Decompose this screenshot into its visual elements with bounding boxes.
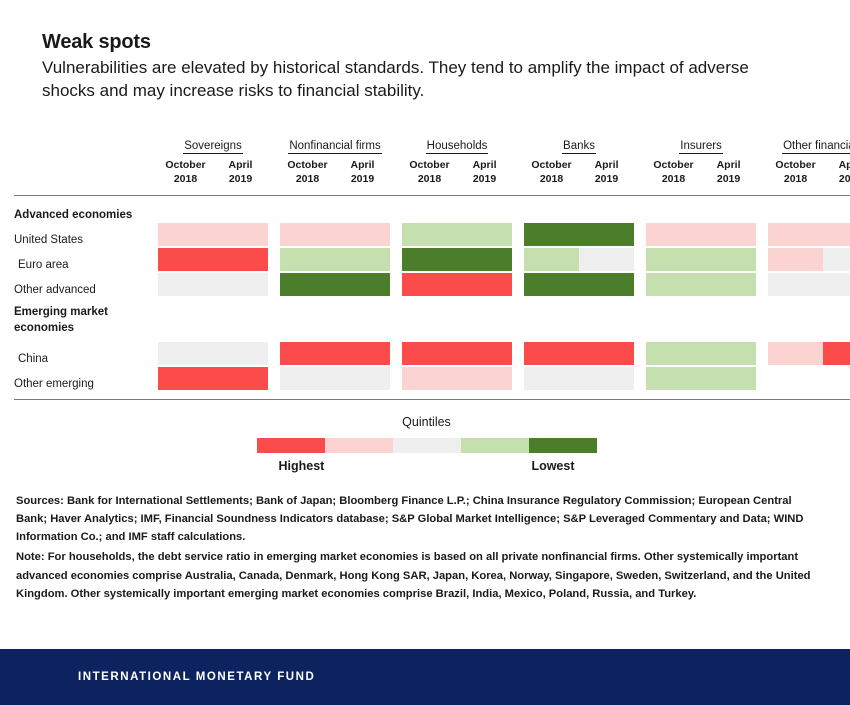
heatmap-swatch-low — [701, 273, 756, 296]
row-label-euro-area: Euro area — [14, 246, 158, 271]
cell-gap — [512, 365, 524, 390]
heatmap-cell[interactable] — [646, 365, 701, 390]
heatmap-swatch-middle — [524, 367, 580, 390]
cell-gap — [268, 246, 280, 271]
heatmap-cell[interactable] — [213, 246, 268, 271]
column-period-header-row: October2018April2019October2018April2019… — [14, 157, 850, 186]
heatmap-header: SovereignsNonfinancial firmsHouseholdsBa… — [14, 140, 850, 196]
cell-gap — [512, 221, 524, 246]
cell-gap — [634, 271, 646, 296]
heatmap-cell[interactable] — [579, 340, 634, 365]
heatmap-swatch-middle — [280, 367, 336, 390]
heatmap-swatch-middle — [158, 273, 214, 296]
legend-label-lowest: Lowest — [531, 459, 574, 473]
row-label-united-states: United States — [14, 221, 158, 246]
heatmap-swatch-middle — [213, 342, 268, 365]
legend-color-bar — [257, 438, 597, 453]
heatmap-cell[interactable] — [579, 365, 634, 390]
heatmap-cell[interactable] — [402, 246, 457, 271]
heatmap-cell[interactable] — [402, 340, 457, 365]
heatmap-swatch-low — [701, 342, 756, 365]
column-period-header: April2019 — [335, 157, 390, 186]
column-period-header: October2018 — [280, 157, 335, 186]
heatmap-cell[interactable] — [402, 271, 457, 296]
column-gap — [390, 157, 402, 186]
heatmap-swatch-high — [280, 223, 336, 246]
header-rule — [14, 186, 850, 196]
heatmap-cell[interactable] — [335, 246, 390, 271]
cell-gap — [268, 365, 280, 390]
period-year: 2019 — [595, 173, 618, 185]
heatmap-cell[interactable] — [213, 271, 268, 296]
heatmap-cell[interactable] — [158, 340, 213, 365]
column-group-label: Households — [426, 140, 489, 154]
heatmap-swatch-highest — [213, 367, 268, 390]
column-group-other-financials: Other financials — [768, 140, 850, 157]
column-period-header: October2018 — [402, 157, 457, 186]
table-row: China — [14, 340, 850, 365]
heatmap-footer — [14, 390, 850, 400]
heatmap-swatch-lowest — [579, 223, 634, 246]
heatmap-cell[interactable] — [524, 271, 579, 296]
heatmap-cell[interactable] — [823, 246, 850, 271]
legend-band-high — [325, 438, 393, 453]
heatmap-swatch-high — [823, 223, 850, 246]
period-month: April — [839, 159, 850, 171]
heatmap-cell[interactable] — [158, 221, 213, 246]
column-gap — [268, 140, 280, 157]
column-period-header: April2019 — [213, 157, 268, 186]
heatmap-swatch-low — [402, 223, 458, 246]
heatmap-cell[interactable] — [335, 365, 390, 390]
heatmap-swatch-highest — [457, 273, 512, 296]
heatmap-swatch-low — [646, 342, 702, 365]
column-gap — [634, 157, 646, 186]
heatmap-cell[interactable] — [579, 271, 634, 296]
heatmap-cell[interactable] — [701, 221, 756, 246]
heatmap-cell[interactable] — [280, 271, 335, 296]
heatmap-cell[interactable] — [768, 365, 823, 390]
heatmap-cell[interactable] — [646, 246, 701, 271]
cell-gap — [634, 365, 646, 390]
table-row: United States — [14, 221, 850, 246]
column-period-header: October2018 — [768, 157, 823, 186]
heatmap-cell[interactable] — [158, 246, 213, 271]
heatmap-cell[interactable] — [823, 340, 850, 365]
cell-gap — [756, 221, 768, 246]
note-text: Note: For households, the debt service r… — [16, 548, 821, 602]
table-row: Euro area — [14, 246, 850, 271]
period-month: October — [775, 159, 815, 171]
heatmap-cell[interactable] — [524, 340, 579, 365]
sources-text: Sources: Bank for International Settleme… — [16, 492, 821, 546]
cell-gap — [634, 340, 646, 365]
figure-page: Weak spots Vulnerabilities are elevated … — [0, 0, 850, 705]
heatmap-cell[interactable] — [524, 221, 579, 246]
heatmap-swatch-highest — [402, 273, 458, 296]
column-group-sovereigns: Sovereigns — [158, 140, 268, 157]
heatmap-swatch-high — [768, 342, 824, 365]
footnotes: Sources: Bank for International Settleme… — [16, 492, 821, 603]
corner-cell-2 — [14, 157, 158, 186]
heatmap-cell[interactable] — [579, 221, 634, 246]
heatmap-swatch-low — [646, 273, 702, 296]
period-year: 2018 — [540, 173, 563, 185]
heatmap-table: SovereignsNonfinancial firmsHouseholdsBa… — [14, 140, 850, 400]
column-period-header: April2019 — [579, 157, 634, 186]
row-label-other-advanced: Other advanced — [14, 271, 158, 296]
legend-band-middle — [393, 438, 461, 453]
column-period-header: April2019 — [701, 157, 756, 186]
heatmap-cell[interactable] — [823, 365, 850, 390]
period-year: 2019 — [717, 173, 740, 185]
heatmap-cell[interactable] — [768, 246, 823, 271]
heatmap-swatch-highest — [823, 342, 850, 365]
page-subtitle: Vulnerabilities are elevated by historic… — [42, 57, 782, 103]
row-label-other-emerging: Other emerging — [14, 365, 158, 390]
heatmap-cell[interactable] — [158, 271, 213, 296]
heatmap-cell[interactable] — [701, 271, 756, 296]
heatmap-swatch-middle — [768, 273, 824, 296]
heatmap-body: Advanced economiesUnited States Euro are… — [14, 196, 850, 391]
heatmap-swatch-lowest — [524, 273, 580, 296]
period-month: October — [165, 159, 205, 171]
cell-gap — [268, 221, 280, 246]
heatmap-cell[interactable] — [213, 340, 268, 365]
heatmap-cell[interactable] — [402, 221, 457, 246]
heatmap-cell[interactable] — [701, 340, 756, 365]
column-gap — [756, 157, 768, 186]
column-period-header: October2018 — [524, 157, 579, 186]
cell-gap — [268, 271, 280, 296]
heatmap-cell[interactable] — [280, 365, 335, 390]
cell-gap — [756, 340, 768, 365]
table-row: Other emerging — [14, 365, 850, 390]
column-gap — [390, 140, 402, 157]
header-rule-row — [14, 186, 850, 196]
heatmap-swatch-low — [280, 248, 336, 271]
cell-gap — [268, 340, 280, 365]
heatmap-swatch-middle — [158, 342, 214, 365]
section-header-row: Advanced economies — [14, 196, 850, 222]
heatmap-swatch-middle — [579, 248, 634, 271]
heatmap-cell[interactable] — [579, 246, 634, 271]
row-label-china: China — [14, 340, 158, 365]
heatmap-swatch-highest — [335, 342, 390, 365]
heatmap-cell[interactable] — [335, 221, 390, 246]
period-year: 2019 — [839, 173, 850, 185]
heatmap-cell[interactable] — [701, 246, 756, 271]
section-row-fill — [158, 296, 850, 336]
heatmap-swatch-high — [158, 223, 214, 246]
period-month: April — [229, 159, 253, 171]
heatmap-cell[interactable] — [823, 271, 850, 296]
heatmap-cell[interactable] — [213, 365, 268, 390]
heatmap-cell[interactable] — [457, 246, 512, 271]
cell-gap — [756, 271, 768, 296]
column-group-label: Banks — [562, 140, 596, 154]
heatmap-cell[interactable] — [280, 246, 335, 271]
legend-title: Quintiles — [14, 415, 839, 429]
column-group-label: Sovereigns — [183, 140, 243, 154]
heatmap-cell[interactable] — [524, 365, 579, 390]
heatmap-swatch-middle — [335, 367, 390, 390]
heatmap-swatch-lowest — [579, 273, 634, 296]
legend: Quintiles Highest Lowest — [14, 415, 839, 476]
heatmap-swatch-highest — [158, 248, 214, 271]
heatmap-swatch-middle — [213, 273, 268, 296]
column-period-header: April2019 — [457, 157, 512, 186]
legend-labels: Highest Lowest — [257, 459, 597, 476]
column-gap — [512, 157, 524, 186]
legend-band-highest — [257, 438, 325, 453]
heatmap-swatch-high — [335, 223, 390, 246]
heatmap-swatch-lowest — [335, 273, 390, 296]
cell-gap — [634, 221, 646, 246]
heatmap-swatch-high — [457, 367, 512, 390]
column-group-label: Other financials — [782, 140, 850, 154]
column-group-nonfinancial-firms: Nonfinancial firms — [280, 140, 390, 157]
period-month: October — [531, 159, 571, 171]
heatmap-swatch-lowest — [524, 223, 580, 246]
heatmap-swatch-high — [701, 223, 756, 246]
cell-gap — [756, 246, 768, 271]
heatmap-swatch-low — [701, 248, 756, 271]
column-group-banks: Banks — [524, 140, 634, 157]
corner-cell — [14, 140, 158, 157]
column-group-label: Nonfinancial firms — [288, 140, 381, 154]
heatmap-cell[interactable] — [457, 221, 512, 246]
heatmap-swatch-highest — [280, 342, 336, 365]
cell-gap — [390, 271, 402, 296]
table-row: Other advanced — [14, 271, 850, 296]
heatmap-chart: SovereignsNonfinancial firmsHouseholdsBa… — [14, 140, 839, 400]
period-month: October — [409, 159, 449, 171]
legend-label-highest: Highest — [279, 459, 325, 473]
heatmap-swatch-middle — [823, 248, 850, 271]
column-group-label: Insurers — [679, 140, 723, 154]
legend-band-lowest — [529, 438, 597, 453]
heatmap-cell[interactable] — [457, 365, 512, 390]
heatmap-swatch-high — [402, 367, 458, 390]
cell-gap — [390, 221, 402, 246]
cell-gap — [756, 365, 768, 390]
period-month: April — [717, 159, 741, 171]
section-header-row: Emerging marketeconomies — [14, 296, 850, 336]
period-year: 2019 — [229, 173, 252, 185]
column-group-header-row: SovereignsNonfinancial firmsHouseholdsBa… — [14, 140, 850, 157]
column-group-insurers: Insurers — [646, 140, 756, 157]
column-period-header: October2018 — [158, 157, 213, 186]
heatmap-cell[interactable] — [158, 365, 213, 390]
heatmap-cell[interactable] — [457, 340, 512, 365]
heatmap-swatch-highest — [402, 342, 458, 365]
period-month: October — [653, 159, 693, 171]
period-year: 2018 — [662, 173, 685, 185]
heatmap-swatch-highest — [524, 342, 580, 365]
cell-gap — [390, 340, 402, 365]
heatmap-swatch-highest — [158, 367, 214, 390]
heatmap-cell[interactable] — [280, 340, 335, 365]
heatmap-swatch-low — [646, 248, 702, 271]
heatmap-swatch-low — [701, 367, 756, 390]
imf-footer-bar: INTERNATIONAL MONETARY FUND — [0, 649, 850, 705]
heatmap-swatch-highest — [579, 342, 634, 365]
heatmap-swatch-low — [524, 248, 580, 271]
heatmap-cell[interactable] — [768, 221, 823, 246]
period-year: 2018 — [784, 173, 807, 185]
heatmap-cell[interactable] — [402, 365, 457, 390]
cell-gap — [512, 271, 524, 296]
column-period-header: April2019 — [823, 157, 850, 186]
heatmap-cell[interactable] — [280, 221, 335, 246]
column-gap — [634, 140, 646, 157]
period-year: 2019 — [473, 173, 496, 185]
column-period-header: October2018 — [646, 157, 701, 186]
section-label-advanced-economies: Advanced economies — [14, 196, 158, 222]
column-gap — [268, 157, 280, 186]
period-year: 2018 — [418, 173, 441, 185]
cell-gap — [512, 246, 524, 271]
heatmap-cell[interactable] — [457, 271, 512, 296]
period-year: 2019 — [351, 173, 374, 185]
heatmap-swatch-empty — [768, 367, 823, 390]
heatmap-swatch-high — [213, 223, 268, 246]
heatmap-swatch-lowest — [402, 248, 458, 271]
footer-rule — [14, 390, 850, 400]
heatmap-swatch-high — [768, 248, 824, 271]
heatmap-swatch-highest — [213, 248, 268, 271]
period-year: 2018 — [174, 173, 197, 185]
footer-rule-row — [14, 390, 850, 400]
heatmap-swatch-middle — [579, 367, 634, 390]
heatmap-swatch-low — [335, 248, 390, 271]
heatmap-cell[interactable] — [335, 271, 390, 296]
heatmap-swatch-middle — [823, 273, 850, 296]
heatmap-cell[interactable] — [646, 221, 701, 246]
period-month: April — [595, 159, 619, 171]
column-group-households: Households — [402, 140, 512, 157]
heatmap-swatch-lowest — [457, 248, 512, 271]
column-gap — [512, 140, 524, 157]
heatmap-cell[interactable] — [646, 271, 701, 296]
period-month: April — [351, 159, 375, 171]
period-month: October — [287, 159, 327, 171]
period-year: 2018 — [296, 173, 319, 185]
heatmap-cell[interactable] — [768, 340, 823, 365]
heatmap-cell[interactable] — [823, 221, 850, 246]
heatmap-cell[interactable] — [524, 246, 579, 271]
heatmap-swatch-highest — [457, 342, 512, 365]
period-month: April — [473, 159, 497, 171]
cell-gap — [634, 246, 646, 271]
heatmap-swatch-high — [646, 223, 702, 246]
heatmap-cell[interactable] — [646, 340, 701, 365]
cell-gap — [512, 340, 524, 365]
section-row-fill — [158, 196, 850, 222]
heatmap-swatch-high — [768, 223, 824, 246]
section-label-emerging-market-economies: Emerging marketeconomies — [14, 296, 158, 336]
figure-header: Weak spots Vulnerabilities are elevated … — [42, 30, 822, 103]
heatmap-swatch-low — [457, 223, 512, 246]
column-gap — [756, 140, 768, 157]
cell-gap — [390, 246, 402, 271]
page-title: Weak spots — [42, 30, 822, 55]
heatmap-cell[interactable] — [213, 221, 268, 246]
heatmap-swatch-lowest — [280, 273, 336, 296]
heatmap-swatch-empty — [823, 367, 850, 390]
heatmap-cell[interactable] — [335, 340, 390, 365]
imf-brand-label: INTERNATIONAL MONETARY FUND — [78, 671, 315, 683]
heatmap-cell[interactable] — [768, 271, 823, 296]
heatmap-cell[interactable] — [701, 365, 756, 390]
heatmap-swatch-low — [646, 367, 702, 390]
cell-gap — [390, 365, 402, 390]
legend-band-low — [461, 438, 529, 453]
